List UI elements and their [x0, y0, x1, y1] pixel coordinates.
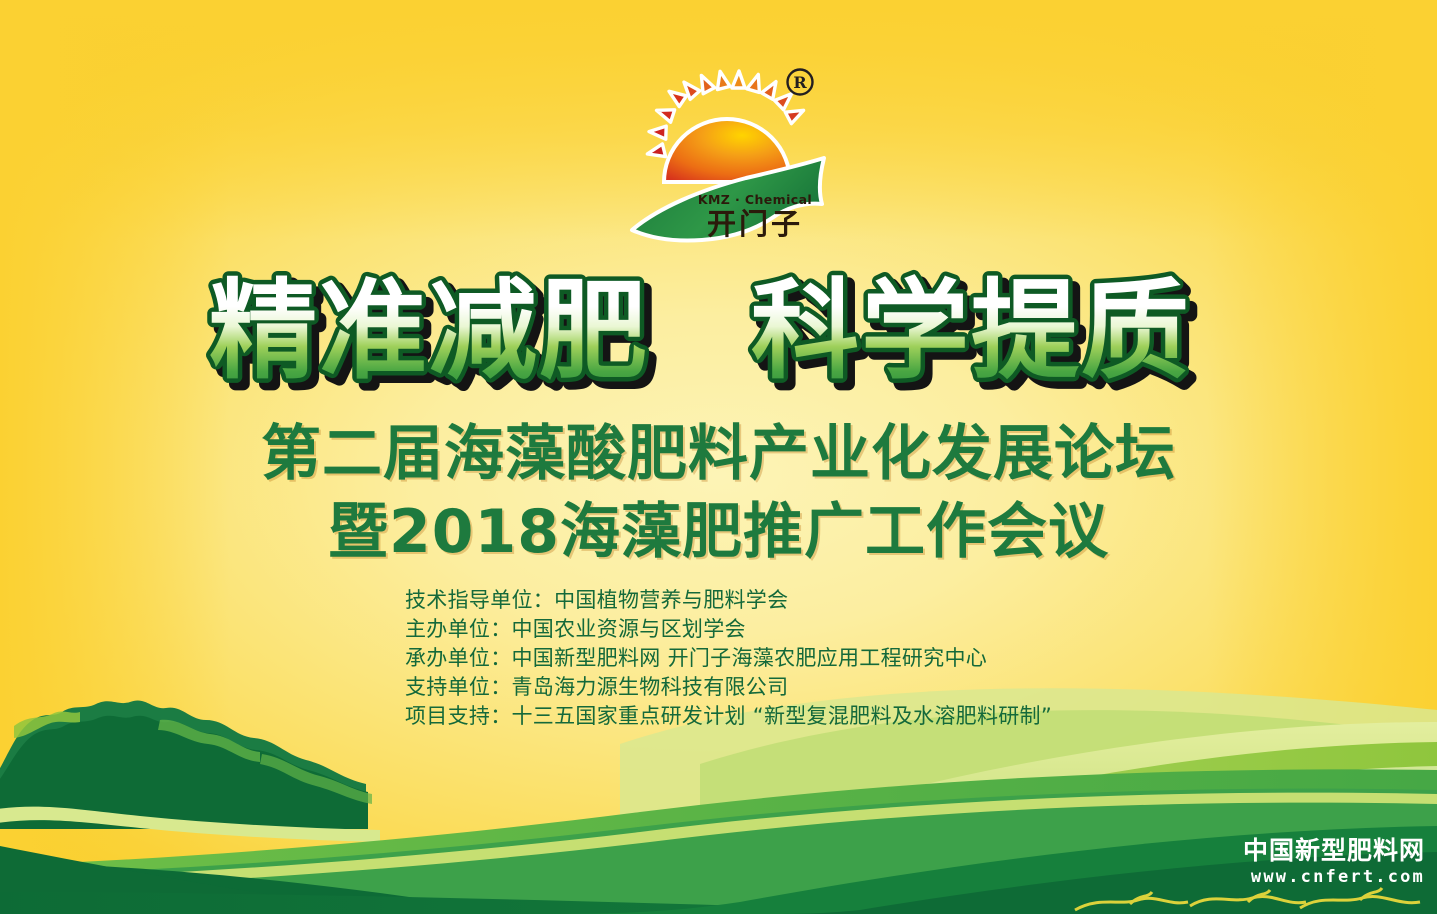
svg-text:R: R — [793, 73, 807, 92]
watermark-site-name: 中国新型肥料网 — [1243, 836, 1425, 866]
credit-line-co-organizer: 承办单位：中国新型肥料网 开门子海藻农肥应用工程研究中心 — [405, 644, 1205, 673]
subtitle-line-2: 暨2018海藻肥推广工作会议 — [0, 483, 1437, 570]
mountain-range — [0, 700, 380, 842]
credit-line-technical-guidance: 技术指导单位：中国植物营养与肥料学会 — [405, 586, 1205, 615]
conference-poster: R KMZ · Chemical 开门子 精准减肥 科学提质 — [0, 0, 1437, 914]
headline-line-1: 精准减肥 — [209, 269, 649, 394]
watermark-site-url: www.cnfert.com — [1243, 866, 1425, 888]
kmz-chemical-logo: R KMZ · Chemical 开门子 — [622, 62, 837, 247]
logo-brand-latin: KMZ · Chemical — [698, 192, 812, 207]
headline: 精准减肥 科学提质 精准减肥 科学提质 精准减肥 科学提质 — [0, 268, 1437, 393]
credits-block: 技术指导单位：中国植物营养与肥料学会 主办单位：中国农业资源与区划学会 承办单位… — [405, 586, 1205, 731]
registered-mark-icon: R — [788, 70, 813, 95]
subtitle-line-1: 第二届海藻酸肥料产业化发展论坛 — [0, 405, 1437, 492]
credit-line-organizer: 主办单位：中国农业资源与区划学会 — [405, 615, 1205, 644]
logo-brand-cn: 开门子 — [707, 207, 803, 241]
headline-line-2: 科学提质 — [751, 269, 1191, 394]
credit-line-supporter: 支持单位：青岛海力源生物科技有限公司 — [405, 673, 1205, 702]
credit-line-project-support: 项目支持：十三五国家重点研发计划 “新型复混肥料及水溶肥料研制” — [405, 702, 1205, 731]
watermark: 中国新型肥料网 www.cnfert.com — [1243, 836, 1425, 888]
